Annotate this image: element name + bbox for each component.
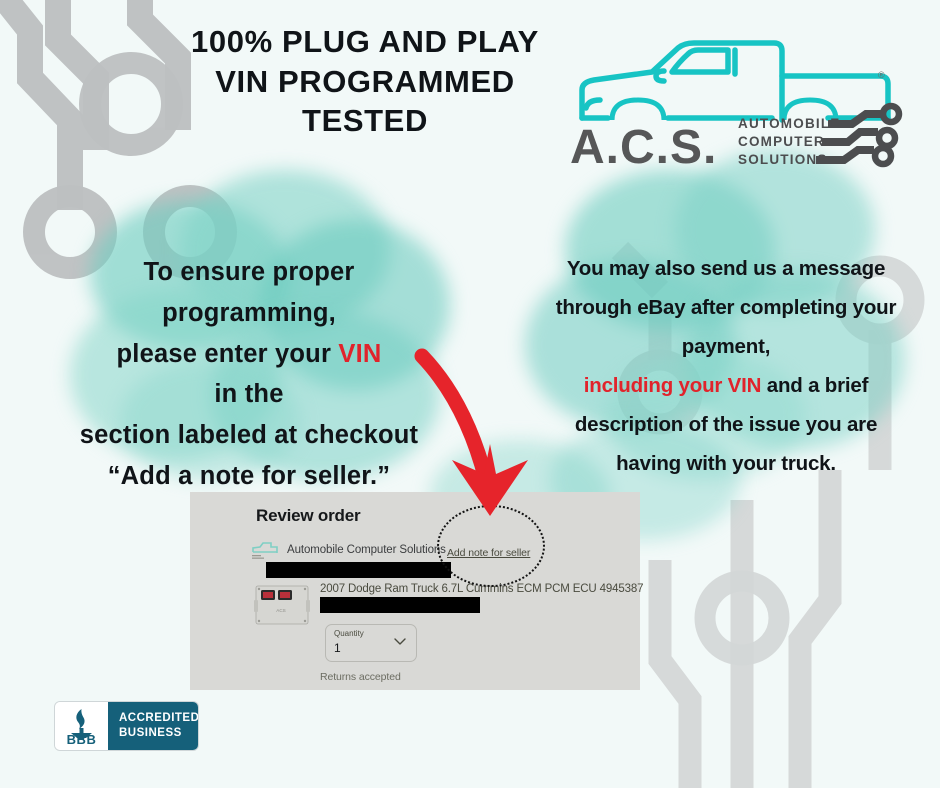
product-thumbnail-ecm[interactable]: ACS	[251, 580, 316, 632]
truck-outline-icon: ® A.C.S. AUTOMOBILE COMPUTER SOLUTIONS	[560, 28, 905, 173]
bbb-logo-mark: BBB	[55, 702, 108, 750]
left-line-2: programming,	[24, 293, 474, 334]
svg-text:®: ®	[878, 70, 885, 80]
bbb-accredited-badge: BBB ACCREDITED BUSINESS	[55, 702, 198, 750]
right-line-1: You may also send us a message	[528, 250, 924, 289]
quantity-value: 1	[334, 641, 341, 655]
left-line-1: To ensure proper	[24, 252, 474, 293]
bbb-text-block: ACCREDITED BUSINESS	[108, 702, 198, 750]
svg-text:A.C.S.: A.C.S.	[570, 121, 717, 173]
right-instruction-block: You may also send us a message through e…	[528, 250, 924, 484]
seller-truck-icon	[250, 538, 280, 562]
right-line-4: including your VIN and a brief	[528, 367, 924, 406]
bbb-acronym: BBB	[67, 732, 97, 747]
quantity-selector[interactable]: Quantity 1	[325, 624, 417, 662]
seller-avatar	[250, 538, 280, 562]
headline-line-1: 100% PLUG AND PLAY	[110, 22, 620, 62]
chevron-down-icon	[394, 638, 406, 646]
bbb-line-1: ACCREDITED	[119, 711, 198, 726]
redaction-bar-price	[320, 597, 480, 613]
left-line-3-text: please enter your	[117, 340, 339, 368]
svg-text:ACS: ACS	[276, 608, 285, 613]
right-line-3: payment,	[528, 328, 924, 367]
svg-text:SOLUTIONS: SOLUTIONS	[738, 152, 828, 167]
svg-text:AUTOMOBILE: AUTOMOBILE	[738, 116, 841, 131]
panel-title: Review order	[256, 506, 360, 526]
returns-accepted-text: Returns accepted	[320, 671, 401, 683]
flyer-canvas: 100% PLUG AND PLAY VIN PROGRAMMED TESTED…	[0, 0, 940, 788]
headline-line-3: TESTED	[110, 101, 620, 141]
right-line-4-rest: and a brief	[761, 374, 868, 397]
redaction-bar-seller	[266, 562, 451, 578]
right-line-6: having with your truck.	[528, 445, 924, 484]
bbb-line-2: BUSINESS	[119, 726, 198, 741]
quantity-label: Quantity	[334, 629, 364, 638]
vin-highlight-right: including your VIN	[584, 374, 762, 397]
red-arrow-pointer	[400, 348, 580, 548]
acs-logo: ® A.C.S. AUTOMOBILE COMPUTER SOLUTIONS	[560, 28, 905, 173]
right-line-5: description of the issue you are	[528, 406, 924, 445]
svg-text:COMPUTER: COMPUTER	[738, 134, 825, 149]
headline-line-2: VIN PROGRAMMED	[110, 62, 620, 102]
vin-highlight: VIN	[338, 340, 381, 368]
headline: 100% PLUG AND PLAY VIN PROGRAMMED TESTED	[110, 22, 620, 141]
right-line-2: through eBay after completing your	[528, 289, 924, 328]
